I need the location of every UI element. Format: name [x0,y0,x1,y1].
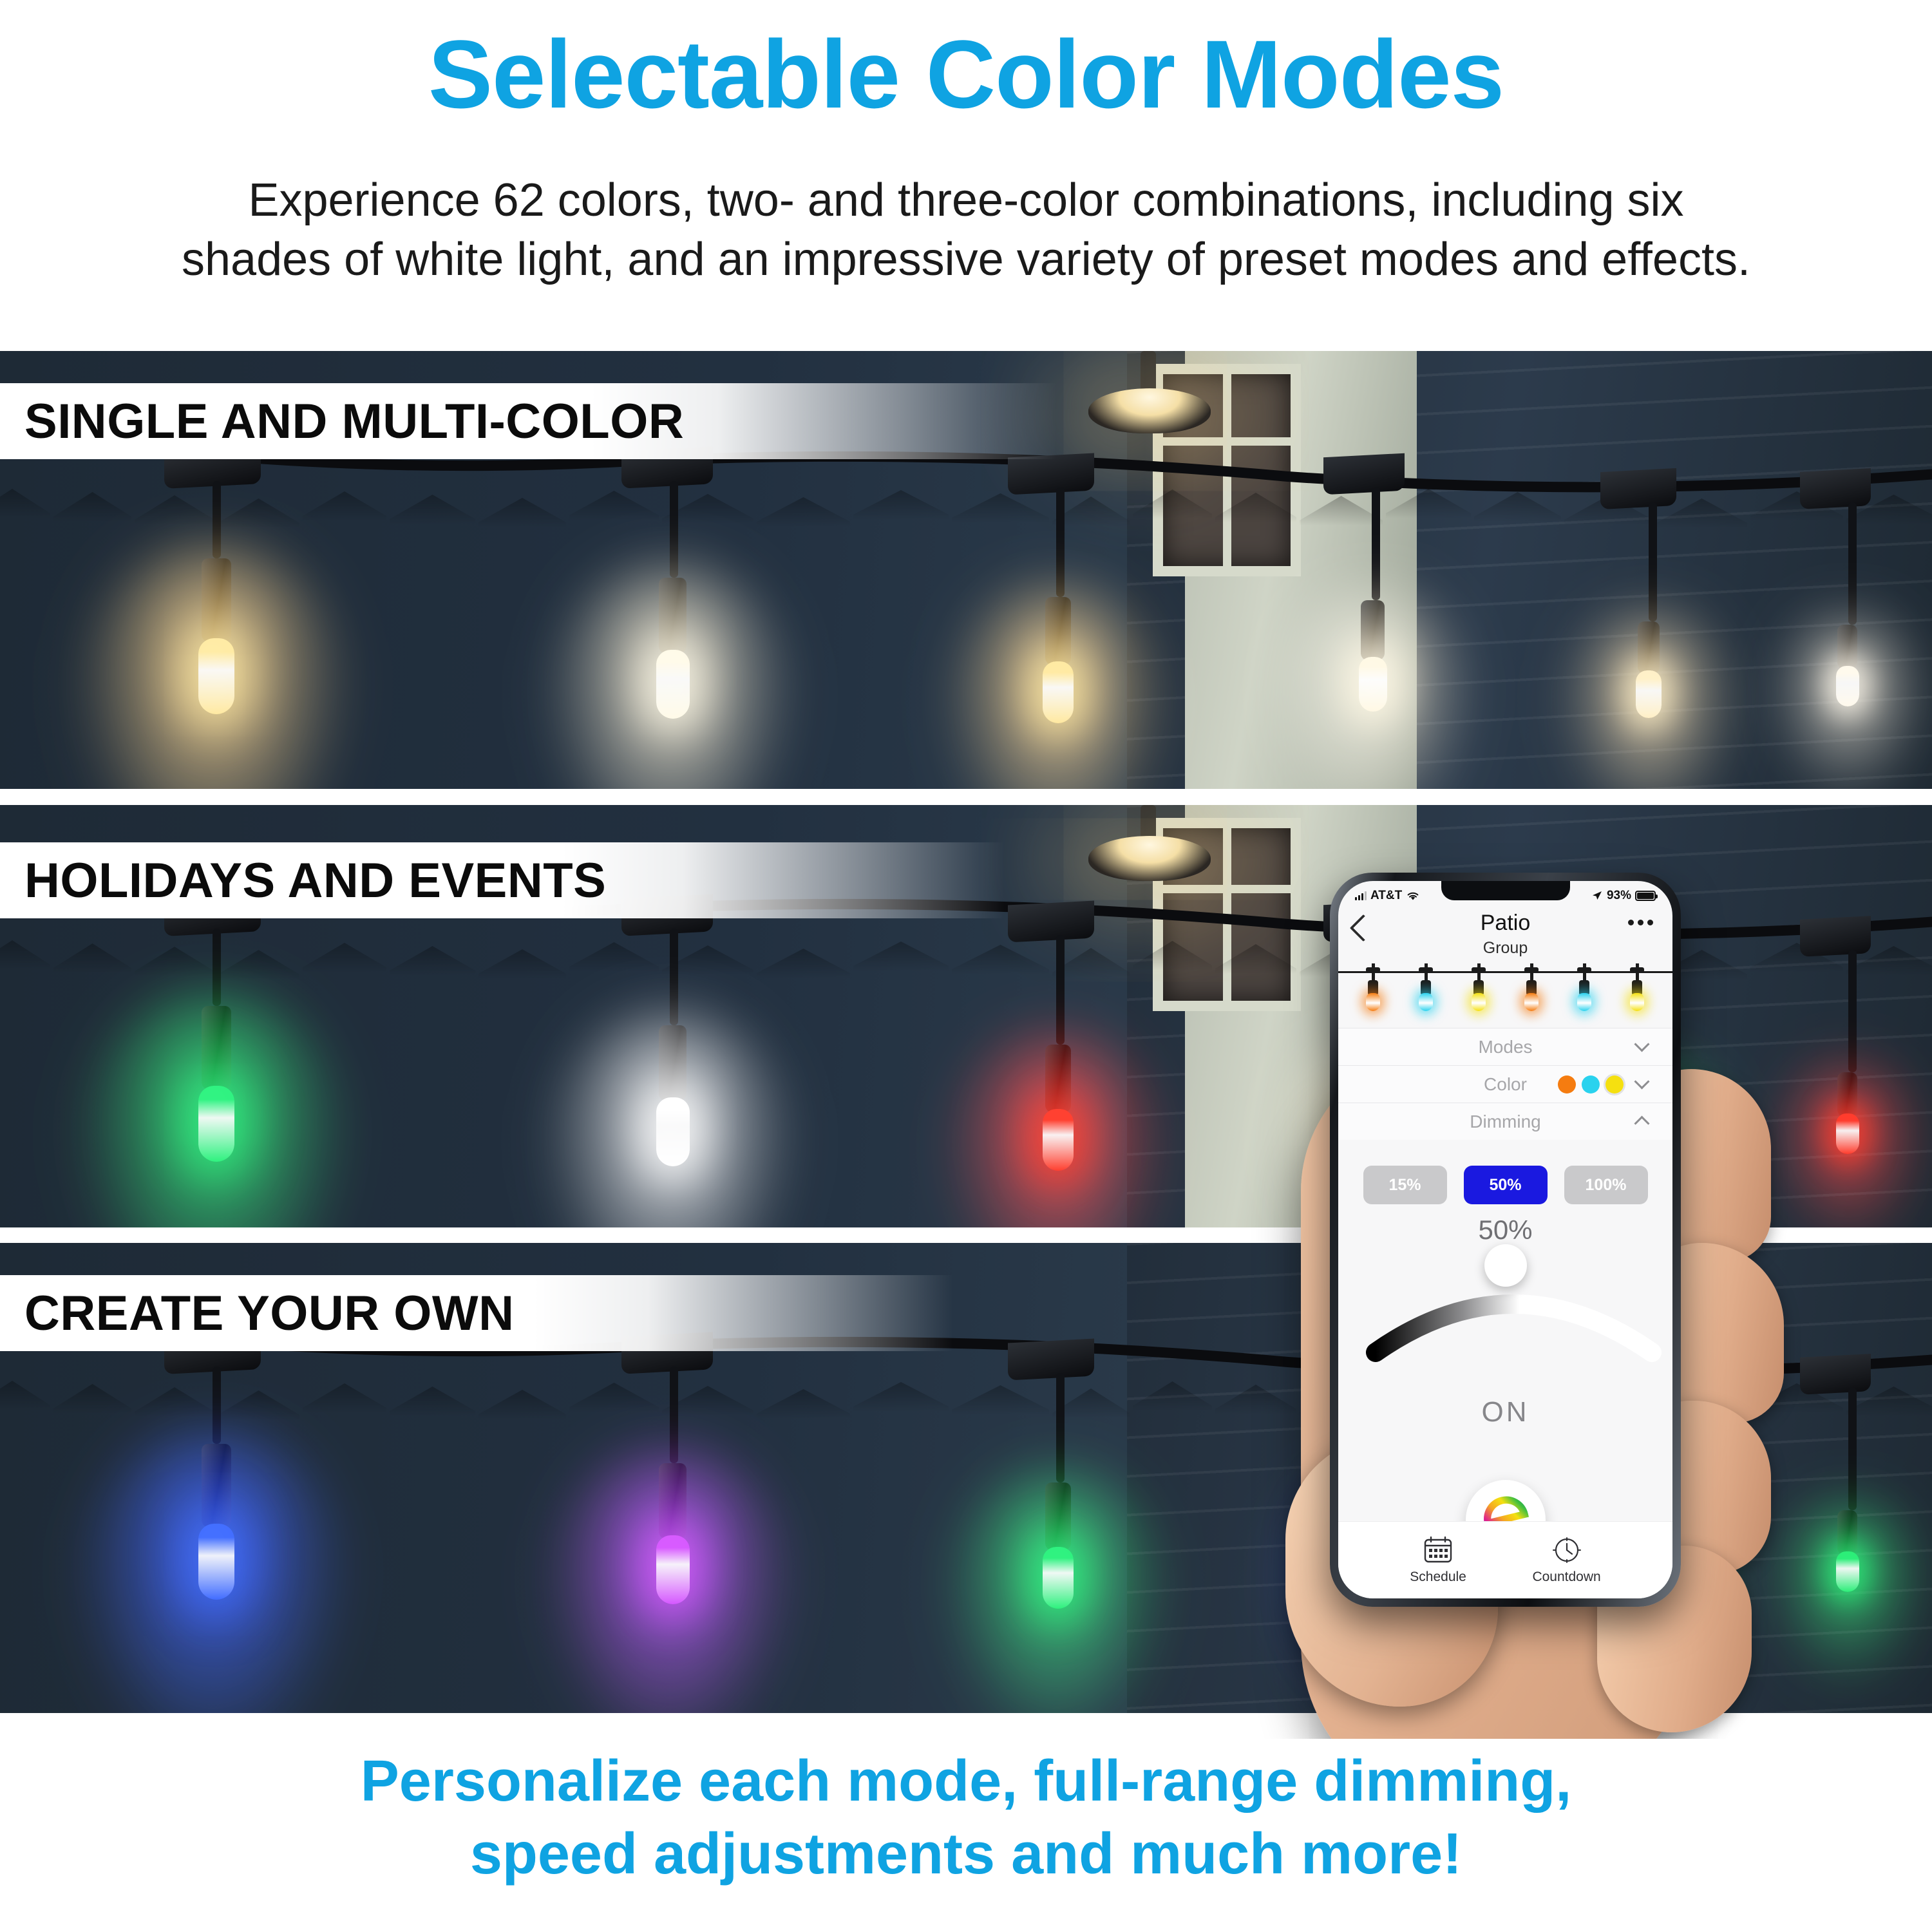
drop-cord [1649,502,1657,621]
smartphone-device: AT&T 9:30 AM 93% [1330,873,1681,1607]
bulb-socket [1045,1482,1071,1551]
bulb-socket [202,1006,231,1090]
wire-hanger [1323,453,1405,495]
bulb-socket [202,1444,231,1528]
drop-cord [213,481,221,558]
tab-label: Countdown [1532,1569,1600,1585]
chevron-up-icon[interactable] [1636,1113,1653,1130]
color-swatch[interactable] [1605,1075,1624,1094]
bulb-socket [1045,1045,1071,1113]
bulb-socket [1837,625,1857,670]
row-label: Color [1484,1074,1527,1095]
light-bulb [1359,657,1387,712]
drop-cord [670,1367,678,1463]
bulb-socket [659,578,687,654]
drop-cord [213,929,221,1006]
drop-cord [1848,502,1857,625]
preview-bulb [1625,963,1649,1023]
light-bulb [1043,1109,1074,1171]
row-dimming[interactable]: Dimming [1338,1103,1672,1140]
brightness-slider-knob[interactable] [1484,1244,1527,1287]
light-bulb [198,1524,234,1600]
drop-cord [1056,935,1065,1045]
light-bulb [656,650,690,719]
drop-cord [213,1367,221,1444]
photo-panel-single-multi-color: SINGLE AND MULTI-COLOR [0,351,1932,789]
preview-bulb [1467,963,1490,1023]
tab-countdown[interactable]: Countdown [1532,1536,1600,1585]
more-horizontal-icon[interactable] [1628,920,1653,925]
battery-percent: 93% [1607,889,1631,903]
chevron-down-icon[interactable] [1636,1039,1653,1056]
phone-screen[interactable]: AT&T 9:30 AM 93% [1338,881,1672,1598]
drop-cord [1056,488,1065,597]
color-swatches[interactable] [1558,1075,1624,1094]
location-arrow-icon [1591,890,1603,902]
dimming-preset-100[interactable]: 100% [1564,1166,1648,1204]
footer-caption: Personalize each mode, full-range dimmin… [193,1745,1739,1890]
brightness-value-label: 50% [1338,1215,1672,1245]
drop-cord [670,481,678,578]
light-bulb [1043,661,1074,723]
wire-hanger [1008,453,1094,495]
bottom-tab-bar[interactable]: Schedule Countdown [1338,1521,1672,1598]
preview-bulb [1520,963,1543,1023]
preview-bulb [1573,963,1596,1023]
light-bulb [656,1535,690,1604]
panel-label: CREATE YOUR OWN [0,1285,515,1341]
panel-label: HOLIDAYS AND EVENTS [0,853,606,909]
light-bulb [1636,670,1662,718]
light-bulb [656,1097,690,1166]
drop-cord [670,929,678,1025]
bulb-socket [1045,597,1071,665]
wire-hanger [1008,1338,1094,1380]
app-navbar: Patio Group [1338,909,1672,965]
color-swatch[interactable] [1582,1075,1600,1094]
battery-icon [1635,891,1656,901]
light-bulb [198,638,234,714]
dimming-preset-50[interactable]: 50% [1464,1166,1548,1204]
group-subtitle: Group [1338,939,1672,958]
panel-label: SINGLE AND MULTI-COLOR [0,393,684,450]
footer-line-1: Personalize each mode, full-range dimmin… [193,1745,1739,1818]
preview-wire [1338,971,1672,973]
wifi-icon [1406,891,1420,901]
panel-label-banner: CREATE YOUR OWN [0,1275,953,1351]
light-bulb [198,1086,234,1162]
wire-hanger [1008,900,1094,942]
bulb-socket [1638,621,1660,674]
bulb-socket [1361,600,1385,661]
page-subtitle: Experience 62 colors, two- and three-col… [103,171,1829,289]
row-modes[interactable]: Modes [1338,1028,1672,1065]
row-color[interactable]: Color [1338,1065,1672,1103]
brightness-arc-slider[interactable] [1338,1249,1672,1385]
bulb-socket [659,1025,687,1101]
wire-hanger [1800,468,1871,509]
row-label: Modes [1478,1037,1532,1057]
drop-cord [1056,1373,1065,1482]
group-title: Patio [1338,911,1672,936]
subtitle-line-1: Experience 62 colors, two- and three-col… [103,171,1829,230]
phone-notch [1441,881,1570,900]
page-title: Selectable Color Modes [0,26,1932,122]
bulb-socket [659,1463,687,1539]
footer-line-2: speed adjustments and much more! [193,1818,1739,1891]
wire-hanger [1600,468,1676,509]
chevron-down-icon[interactable] [1636,1076,1653,1093]
signal-bars-icon [1355,891,1367,900]
bulb-socket [202,558,231,642]
calendar-icon [1423,1536,1453,1564]
drop-cord [1372,488,1380,600]
header-section: Selectable Color Modes Experience 62 col… [0,0,1932,351]
preview-bulb [1361,963,1385,1023]
subtitle-line-2: shades of white light, and an impressive… [103,230,1829,289]
preview-bulb [1414,963,1437,1023]
carrier-label: AT&T [1370,889,1402,903]
power-state-label: ON [1338,1396,1672,1428]
dimming-preset-15[interactable]: 15% [1363,1166,1447,1204]
tab-label: Schedule [1410,1569,1466,1585]
footer-section: Personalize each mode, full-range dimmin… [0,1739,1932,1932]
dimming-preset-buttons[interactable]: 15%50%100% [1338,1166,1672,1204]
panel-label-banner: HOLIDAYS AND EVENTS [0,842,1005,918]
string-lights-preview [1338,963,1672,1023]
color-swatch[interactable] [1558,1075,1576,1094]
panel-label-banner: SINGLE AND MULTI-COLOR [0,383,1056,459]
clock-icon [1552,1536,1582,1564]
light-bulb [1043,1547,1074,1609]
tab-schedule[interactable]: Schedule [1410,1536,1466,1585]
row-label: Dimming [1470,1112,1540,1132]
light-bulb [1836,666,1859,706]
phone-in-hand: AT&T 9:30 AM 93% [1262,857,1932,1861]
